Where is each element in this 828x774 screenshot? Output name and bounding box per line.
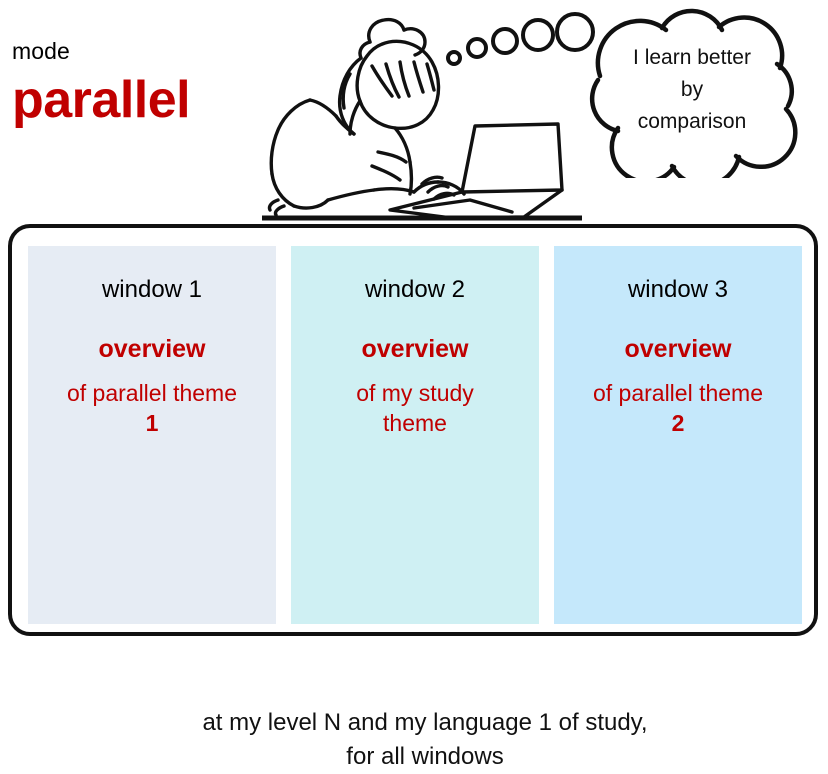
- overview-sub-2: of my study theme: [291, 378, 539, 438]
- thought-line-1: I learn better: [633, 46, 751, 69]
- mode-value: parallel: [12, 71, 262, 129]
- header-block: mode parallel: [12, 38, 262, 129]
- overview-sub-1: of parallel theme 1: [28, 378, 276, 438]
- thought-dot-4: [523, 20, 553, 50]
- window-title-2: window 2: [291, 276, 539, 304]
- panels-row: window 1 overview of parallel theme 1 wi…: [28, 246, 802, 624]
- window-panel-2[interactable]: window 2 overview of my study theme: [291, 246, 539, 624]
- caption-line-1: at my level N and my language 1 of study…: [28, 706, 822, 740]
- overview-label-3: overview: [554, 334, 802, 364]
- windows-container: window 1 overview of parallel theme 1 wi…: [8, 224, 818, 636]
- window-panel-1[interactable]: window 1 overview of parallel theme 1: [28, 246, 276, 624]
- overview-label-2: overview: [291, 334, 539, 364]
- thought-dot-3: [493, 29, 517, 53]
- window-title-3: window 3: [554, 276, 802, 304]
- thought-bubble: I learn better by comparison: [440, 8, 828, 178]
- overview-sub-text-1: of parallel theme: [67, 380, 237, 406]
- thought-line-3: comparison: [638, 110, 747, 133]
- overview-sub-text-3: of parallel theme: [593, 380, 763, 406]
- thought-dot-2: [468, 39, 486, 57]
- mode-label: mode: [12, 38, 262, 64]
- thought-dot-5: [557, 14, 593, 50]
- overview-number-1: 1: [32, 408, 272, 438]
- caption-line-2: for all windows: [28, 740, 822, 774]
- window-title-1: window 1: [28, 276, 276, 304]
- thought-line-2: by: [681, 78, 704, 101]
- overview-sub-3: of parallel theme 2: [554, 378, 802, 438]
- overview-number-2: theme: [295, 408, 535, 438]
- caption: at my level N and my language 1 of study…: [28, 706, 822, 774]
- thought-dot-1: [448, 52, 460, 64]
- overview-number-3: 2: [558, 408, 798, 438]
- overview-sub-text-2: of my study: [356, 380, 474, 406]
- overview-label-1: overview: [28, 334, 276, 364]
- window-panel-3[interactable]: window 3 overview of parallel theme 2: [554, 246, 802, 624]
